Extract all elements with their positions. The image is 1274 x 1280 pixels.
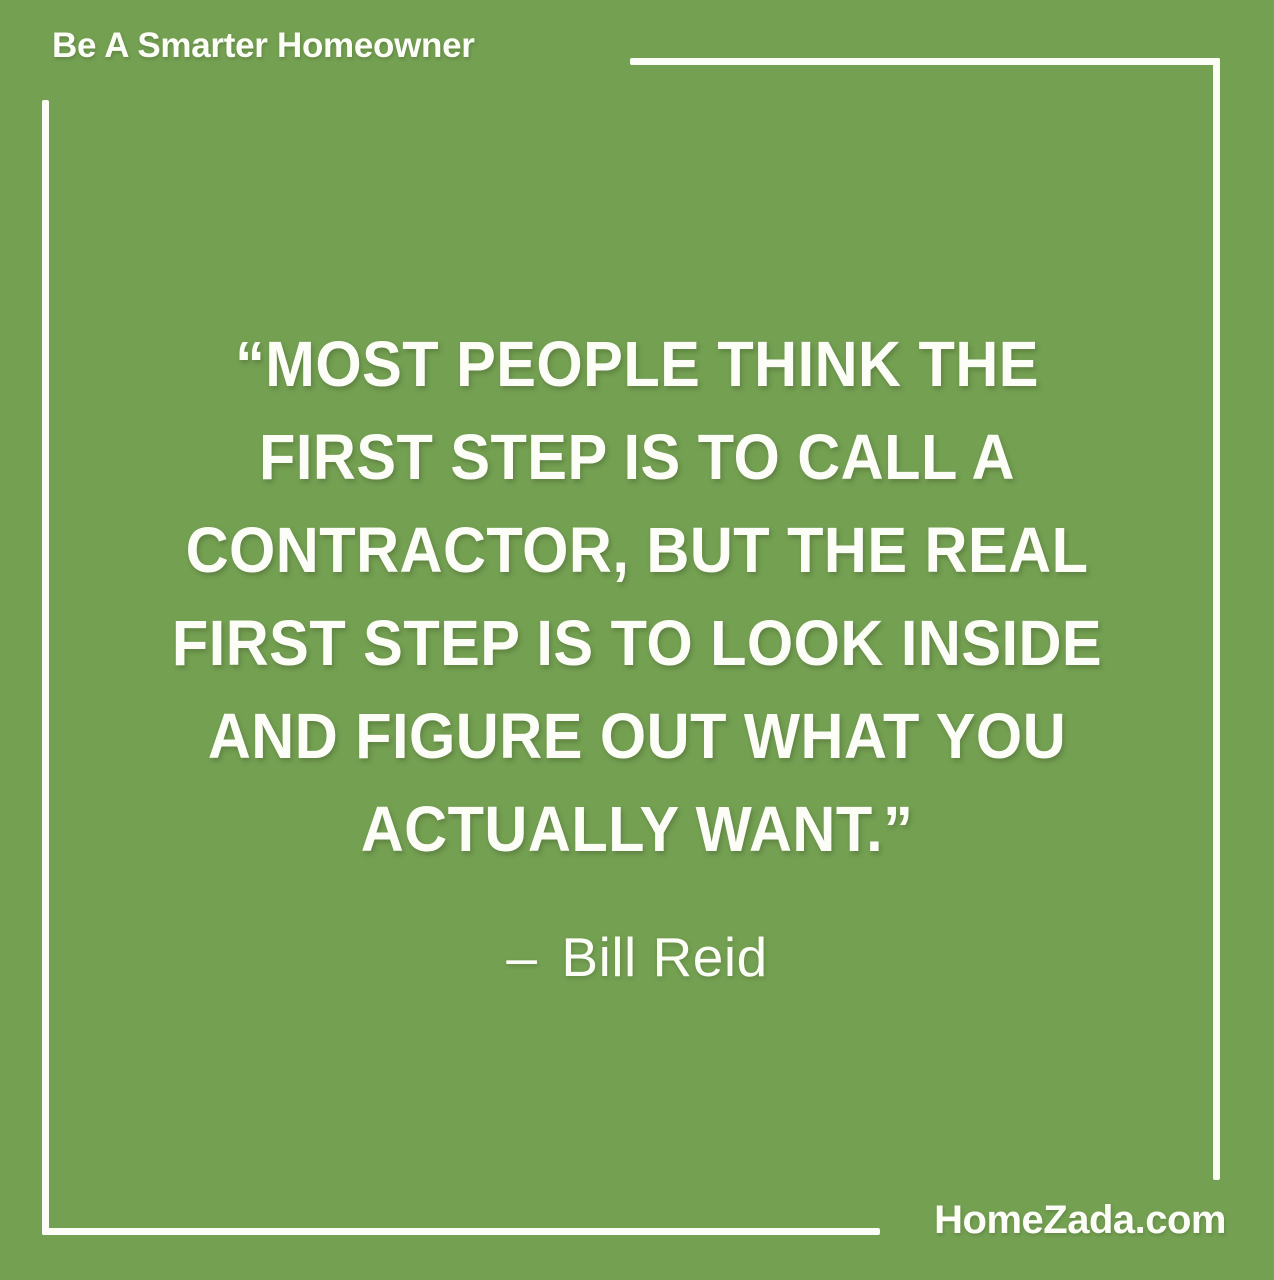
attribution-dash: – [506, 925, 537, 989]
quote-line: CONTRACTOR, BUT THE REAL [45, 504, 1230, 597]
quote-line: FIRST STEP IS TO LOOK INSIDE [45, 597, 1230, 690]
frame-bottom-line [42, 1228, 880, 1235]
quote-card: Be A Smarter Homeowner “MOST PEOPLE THIN… [0, 0, 1274, 1280]
quote-attribution: –Bill Reid [0, 925, 1274, 989]
quote-line: ACTUALLY WANT.” [45, 783, 1230, 876]
quote-line: “MOST PEOPLE THINK THE [45, 318, 1230, 411]
quote-line: FIRST STEP IS TO CALL A [45, 411, 1230, 504]
frame-top-line [630, 58, 1220, 65]
footer-brand: HomeZada.com [934, 1198, 1226, 1243]
quote-text: “MOST PEOPLE THINK THE FIRST STEP IS TO … [0, 318, 1274, 876]
header-title: Be A Smarter Homeowner [52, 26, 475, 66]
quote-line: AND FIGURE OUT WHAT YOU [45, 690, 1230, 783]
attribution-author: Bill Reid [561, 926, 767, 988]
